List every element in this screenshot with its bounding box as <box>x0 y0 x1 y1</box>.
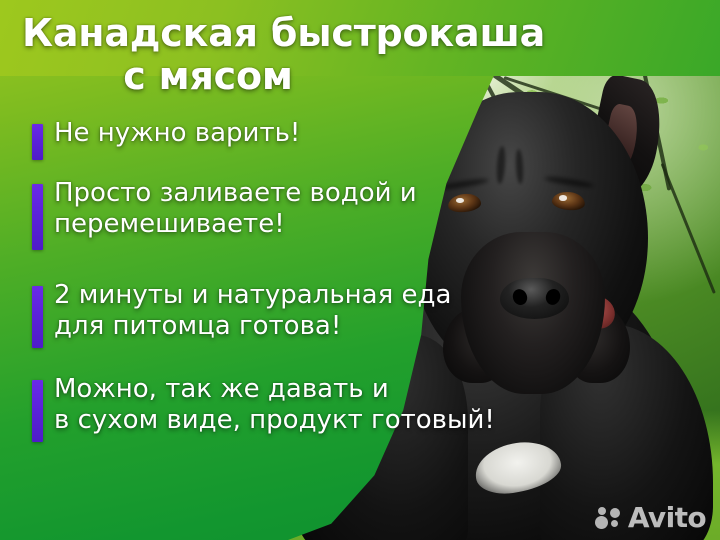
page-title: Канадская быстрокаша с мясом <box>0 14 508 96</box>
list-item: 2 минуты и натуральная еда для питомца г… <box>0 280 640 348</box>
avito-dots-icon <box>595 507 621 529</box>
list-item: Не нужно варить! <box>0 118 640 160</box>
avito-watermark: Avito <box>595 504 706 532</box>
list-item-label: 2 минуты и натуральная еда для питомца г… <box>54 280 451 341</box>
list-item: Можно, так же давать и в сухом виде, про… <box>0 374 640 442</box>
list-item: Просто заливаете водой и перемешиваете! <box>0 178 640 250</box>
list-item-label: Не нужно варить! <box>54 118 300 149</box>
bullet-marker-icon <box>32 124 43 160</box>
avito-wordmark: Avito <box>628 504 706 532</box>
title-line-2: с мясом <box>0 57 508 96</box>
list-item-label: Просто заливаете водой и перемешиваете! <box>54 178 417 239</box>
advert-poster: Канадская быстрокаша с мясом Не нужно ва… <box>0 0 720 540</box>
bullet-marker-icon <box>32 286 43 348</box>
bullet-marker-icon <box>32 184 43 250</box>
feature-list: Не нужно варить! Просто заливаете водой … <box>0 118 640 460</box>
list-item-label: Можно, так же давать и в сухом виде, про… <box>54 374 495 435</box>
title-line-1: Канадская быстрокаша <box>0 14 508 53</box>
bullet-marker-icon <box>32 380 43 442</box>
